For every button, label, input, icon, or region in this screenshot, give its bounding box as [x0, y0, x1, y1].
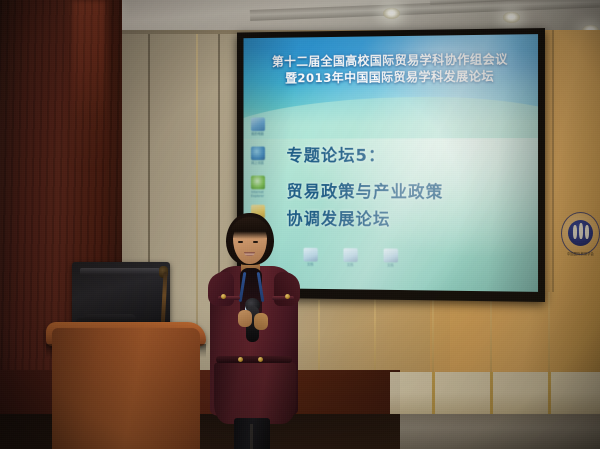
emblem-figure — [579, 223, 583, 239]
wall-seam — [196, 34, 198, 334]
network-icon — [250, 147, 264, 161]
document-icon — [343, 248, 357, 262]
coat-button — [221, 294, 226, 299]
desktop-icon-label: 我的电脑 — [249, 132, 266, 136]
wood-highlight — [72, 0, 106, 170]
slide-title-line1: 专题论坛5： — [287, 142, 523, 170]
slide-header-text: 第十二届全国高校国际贸易学科协作组会议 暨2013年中国国际贸易学科发展论坛 — [243, 50, 538, 87]
monitor-vent — [80, 268, 160, 275]
desktop-icon-network[interactable]: 网上邻居 — [249, 147, 266, 165]
speaker-leg-gap — [250, 424, 253, 449]
belt-buckle — [258, 357, 263, 362]
speaker-hand-left — [238, 310, 252, 327]
internet-explorer-icon — [250, 176, 264, 190]
conference-photo: 第十二届全国高校国际贸易学科协作组会议 暨2013年中国国际贸易学科发展论坛 专… — [0, 0, 600, 449]
coat-button — [285, 294, 290, 299]
speaker-hand-right — [254, 313, 268, 330]
slide-title-line3: 协调发展论坛 — [287, 206, 523, 235]
ceiling-spotlight-icon — [503, 12, 520, 23]
desktop-icon-label: Internet Explorer — [249, 190, 266, 198]
speaker-mouth — [244, 252, 255, 256]
speaker-shoulder-right — [274, 272, 300, 306]
wall-panel-separator — [548, 372, 551, 418]
wall-panel-separator — [432, 372, 435, 418]
slide-header-line2: 暨2013年中国国际贸易学科发展论坛 — [243, 67, 538, 87]
emblem-figure — [585, 225, 589, 239]
ceiling-spotlight-icon — [383, 8, 400, 19]
emblem-figure — [573, 225, 577, 239]
coat-pocket-right — [272, 296, 294, 300]
wall-panel-separator — [490, 372, 493, 418]
slide-title: 专题论坛5： 贸易政策与产业政策 协调发展论坛 — [287, 142, 523, 235]
desktop-icon-label: 文档 — [341, 263, 358, 267]
wall-panel-band — [390, 372, 600, 418]
desktop-icon-document-b[interactable]: 文档 — [341, 248, 358, 267]
desktop-icon-internet-explorer[interactable]: Internet Explorer — [249, 176, 266, 198]
desktop-icon-document-c[interactable]: 文档 — [382, 249, 399, 268]
wall-seam — [552, 30, 554, 292]
speaker-coat-skirt — [214, 362, 296, 424]
desktop-icon-label: 网上邻居 — [249, 161, 266, 165]
speaker-belt — [216, 356, 292, 363]
institution-emblem: 中国国际贸易学会 — [561, 212, 600, 255]
slide-title-line2: 贸易政策与产业政策 — [287, 179, 523, 207]
emblem-caption: 中国国际贸易学会 — [561, 251, 600, 256]
speaker-shoulder-left — [208, 272, 234, 306]
emblem-core — [568, 220, 593, 246]
desktop-icon-my-computer[interactable]: 我的电脑 — [249, 117, 266, 135]
speaker — [200, 210, 312, 449]
belt-buckle — [238, 357, 243, 362]
podium — [52, 328, 200, 449]
my-computer-icon — [250, 117, 264, 131]
desktop-icon-label: 文档 — [382, 263, 399, 267]
document-icon — [383, 249, 397, 263]
